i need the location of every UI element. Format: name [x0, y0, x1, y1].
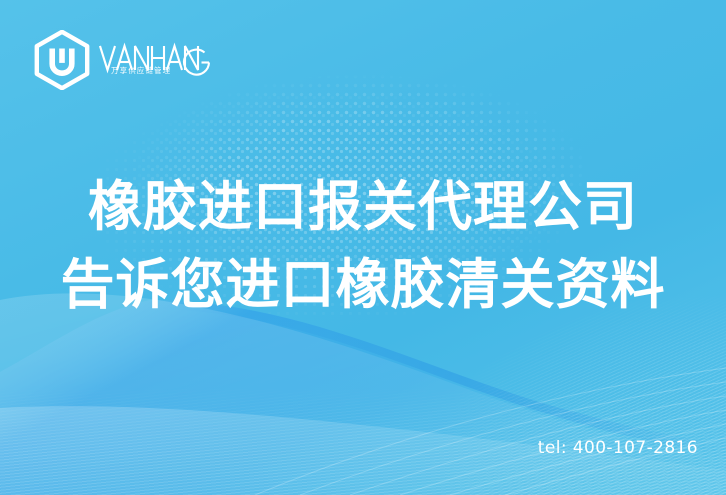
brand-wordmark-group: 万享供应链管理: [99, 40, 211, 80]
brand-logo[interactable]: 万享供应链管理: [34, 30, 211, 90]
brand-sub-text: 万享供应链管理: [111, 65, 171, 76]
vanhang-hexagon-u-logo-icon: [34, 30, 90, 90]
headline-block: 橡胶进口报关代理公司 告诉您进口橡胶清关资料: [0, 168, 726, 324]
promo-banner: 万享供应链管理 橡胶进口报关代理公司 告诉您进口橡胶清关资料 tel: 400-…: [0, 0, 726, 495]
headline-line-2: 告诉您进口橡胶清关资料: [0, 246, 726, 324]
headline-line-1: 橡胶进口报关代理公司: [0, 168, 726, 246]
contact-phone[interactable]: tel: 400-107-2816: [538, 438, 698, 458]
